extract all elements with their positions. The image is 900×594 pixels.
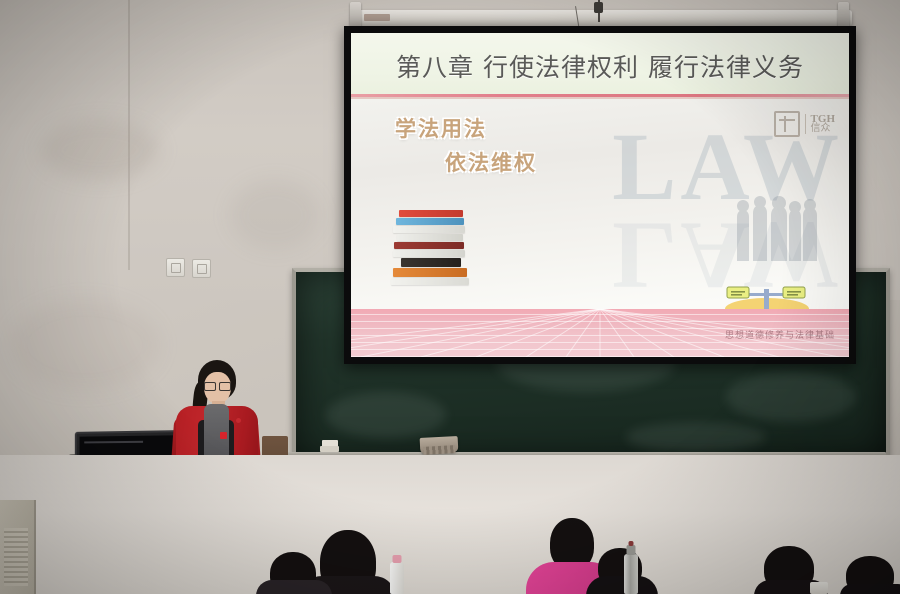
housing-brand-label <box>364 14 390 21</box>
thermos-lid-tip <box>629 541 634 546</box>
presenter-name-badge <box>220 432 227 439</box>
white-water-bottle[interactable] <box>390 562 404 594</box>
laptop-screen-text-line <box>84 441 143 444</box>
perspective-floor-grid: 思想道德修养与法律基础 <box>351 309 849 357</box>
book-white-4 <box>391 278 469 285</box>
book-white-2 <box>397 234 463 241</box>
book-dark <box>401 258 461 267</box>
slide-subtitle-line1: 学法用法 <box>395 113 487 143</box>
logo-square-icon <box>774 111 800 137</box>
wall-socket-right[interactable] <box>192 259 211 278</box>
book-stack-graphic <box>393 209 465 285</box>
book-orange <box>393 268 467 277</box>
presenter-lapel-pin <box>236 418 241 423</box>
student-2-body <box>256 580 332 594</box>
list-item <box>256 532 332 594</box>
white-cup[interactable] <box>810 582 828 594</box>
wall-stain-1 <box>40 120 160 180</box>
screen-bracket-right <box>838 2 849 28</box>
board-eraser[interactable] <box>420 436 459 454</box>
slide-body: LAW LAW 学法用法 依法维权 TGH 信众 <box>351 99 849 357</box>
course-name-label: 思想道德修养与法律基础 <box>725 328 835 341</box>
chalk-smudge-4 <box>626 422 766 452</box>
slide-header: 第八章 行使法律权利 履行法律义务 <box>351 33 849 99</box>
book-blue <box>396 218 464 225</box>
cord-clip <box>594 2 603 13</box>
chalk-smudge-1 <box>326 392 446 438</box>
projection-screen: 第八章 行使法律权利 履行法律义务 LAW LAW 学法用法 依法维权 TGH … <box>344 26 856 364</box>
thermos-cap <box>627 545 636 555</box>
wall-socket-left[interactable] <box>166 258 185 277</box>
slide-subtitle-line2: 依法维权 <box>445 147 537 177</box>
book-white-1 <box>393 226 465 233</box>
book-white-3 <box>393 250 465 257</box>
logo-cn-text: 信众 <box>811 124 835 134</box>
wall-stain-2 <box>10 300 160 390</box>
student-6-body <box>840 584 900 594</box>
book-red-top <box>399 210 463 217</box>
chalk-smudge-3 <box>726 372 856 422</box>
bottle-cap-pink <box>393 555 402 563</box>
people-silhouette-graphic <box>727 195 823 261</box>
wall-stain-3 <box>230 180 320 250</box>
steel-thermos[interactable] <box>624 554 638 594</box>
side-door[interactable] <box>0 500 36 594</box>
slide-title: 第八章 行使法律权利 履行法律义务 <box>396 48 804 84</box>
door-louvers <box>4 528 28 586</box>
student-4-body <box>586 576 658 594</box>
glasses-icon <box>204 382 231 389</box>
list-item <box>840 550 900 594</box>
brand-logo: TGH 信众 <box>774 111 835 137</box>
presentation-slide: 第八章 行使法律权利 履行法律义务 LAW LAW 学法用法 依法维权 TGH … <box>351 33 849 357</box>
screen-bracket-left <box>350 2 361 28</box>
book-darkred <box>394 242 464 249</box>
chalk-stick-2[interactable] <box>320 446 339 452</box>
lecture-hall-photo: 已 清 洁 第八章 行使法律权利 履行法律义务 LAW LAW 学法用法 依法维… <box>0 0 900 594</box>
list-item <box>586 544 658 594</box>
logo-text-block: TGH 信众 <box>805 114 835 134</box>
